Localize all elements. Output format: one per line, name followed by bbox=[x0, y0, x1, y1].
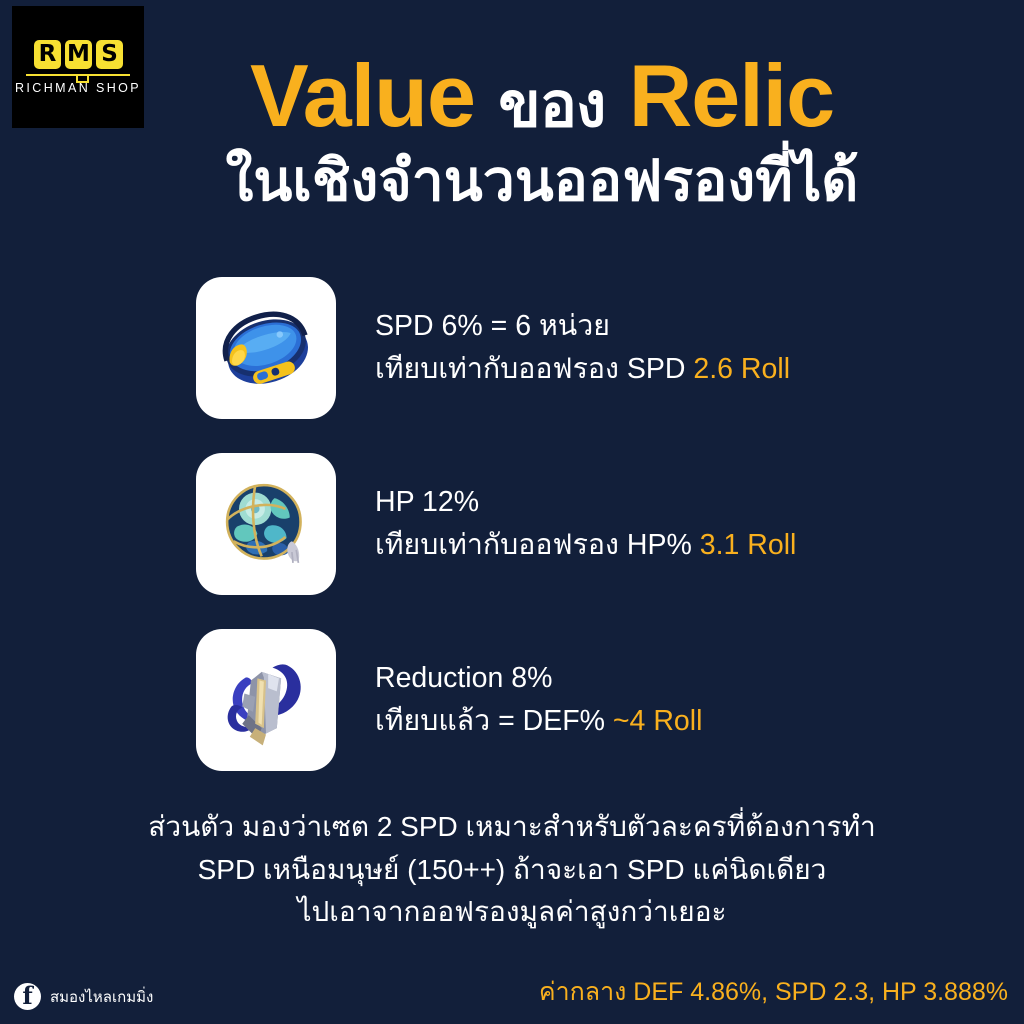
relic-icon-card-2 bbox=[196, 453, 336, 595]
headline-word-relic: Relic bbox=[629, 46, 834, 145]
relic-icon-card-3 bbox=[196, 629, 336, 771]
headline-subtitle: ในเชิงจำนวนออฟรองที่ได้ bbox=[60, 152, 1024, 212]
relic-roll-value: 3.1 Roll bbox=[700, 529, 797, 561]
relic-line-prefix: เทียบแล้ว = DEF% bbox=[375, 705, 613, 737]
relic-line-primary: HP 12% bbox=[375, 481, 796, 524]
relic-line-secondary: เทียบเท่ากับออฟรอง SPD 2.6 Roll bbox=[375, 348, 790, 391]
relic-line-secondary: เทียบเท่ากับออฟรอง HP% 3.1 Roll bbox=[375, 524, 796, 567]
relic-helmet-visor-icon bbox=[212, 294, 320, 402]
relic-line-prefix: เทียบเท่ากับออฟรอง SPD bbox=[375, 353, 693, 385]
summary-paragraph: ส่วนตัว มองว่าเซต 2 SPD เหมาะสำหรับตัวละ… bbox=[0, 806, 1024, 934]
relic-roll-value: ~4 Roll bbox=[613, 705, 703, 737]
summary-line-1: ส่วนตัว มองว่าเซต 2 SPD เหมาะสำหรับตัวละ… bbox=[0, 806, 1024, 849]
footer-stats: ค่ากลาง DEF 4.86%, SPD 2.3, HP 3.888% bbox=[539, 972, 1008, 1012]
relic-ribbon-armor-icon bbox=[212, 646, 320, 754]
infographic-canvas: R M S RICHMAN SHOP Value ของ Relic ในเชิ… bbox=[0, 0, 1024, 1024]
headline-word-khong: ของ bbox=[498, 71, 605, 140]
summary-line-3: ไปเอาจากออฟรองมูลค่าสูงกว่าเยอะ bbox=[0, 891, 1024, 934]
headline-word-value: Value bbox=[250, 46, 475, 145]
relic-roll-value: 2.6 Roll bbox=[693, 353, 790, 385]
relic-line-prefix: เทียบเท่ากับออฟรอง HP% bbox=[375, 529, 700, 561]
footer-credit: สมองไหลเกมมิ่ง bbox=[14, 983, 153, 1010]
list-item: HP 12% เทียบเท่ากับออฟรอง HP% 3.1 Roll bbox=[196, 453, 916, 595]
relic-icon-card-1 bbox=[196, 277, 336, 419]
facebook-icon bbox=[14, 983, 41, 1010]
relic-text-1: SPD 6% = 6 หน่วย เทียบเท่ากับออฟรอง SPD … bbox=[375, 305, 790, 392]
relic-list: SPD 6% = 6 หน่วย เทียบเท่ากับออฟรอง SPD … bbox=[196, 277, 916, 805]
relic-text-2: HP 12% เทียบเท่ากับออฟรอง HP% 3.1 Roll bbox=[375, 481, 796, 568]
headline-main: Value ของ Relic bbox=[60, 52, 1024, 140]
list-item: Reduction 8% เทียบแล้ว = DEF% ~4 Roll bbox=[196, 629, 916, 771]
list-item: SPD 6% = 6 หน่วย เทียบเท่ากับออฟรอง SPD … bbox=[196, 277, 916, 419]
relic-text-3: Reduction 8% เทียบแล้ว = DEF% ~4 Roll bbox=[375, 657, 702, 744]
summary-line-2: SPD เหนือมนุษย์ (150++) ถ้าจะเอา SPD แค่… bbox=[0, 849, 1024, 892]
relic-line-primary: SPD 6% = 6 หน่วย bbox=[375, 305, 790, 348]
relic-planar-orb-icon bbox=[212, 470, 320, 578]
page-title: Value ของ Relic ในเชิงจำนวนออฟรองที่ได้ bbox=[0, 52, 1024, 212]
credit-page-name: สมองไหลเกมมิ่ง bbox=[50, 985, 153, 1009]
relic-line-primary: Reduction 8% bbox=[375, 657, 702, 700]
relic-line-secondary: เทียบแล้ว = DEF% ~4 Roll bbox=[375, 700, 702, 743]
